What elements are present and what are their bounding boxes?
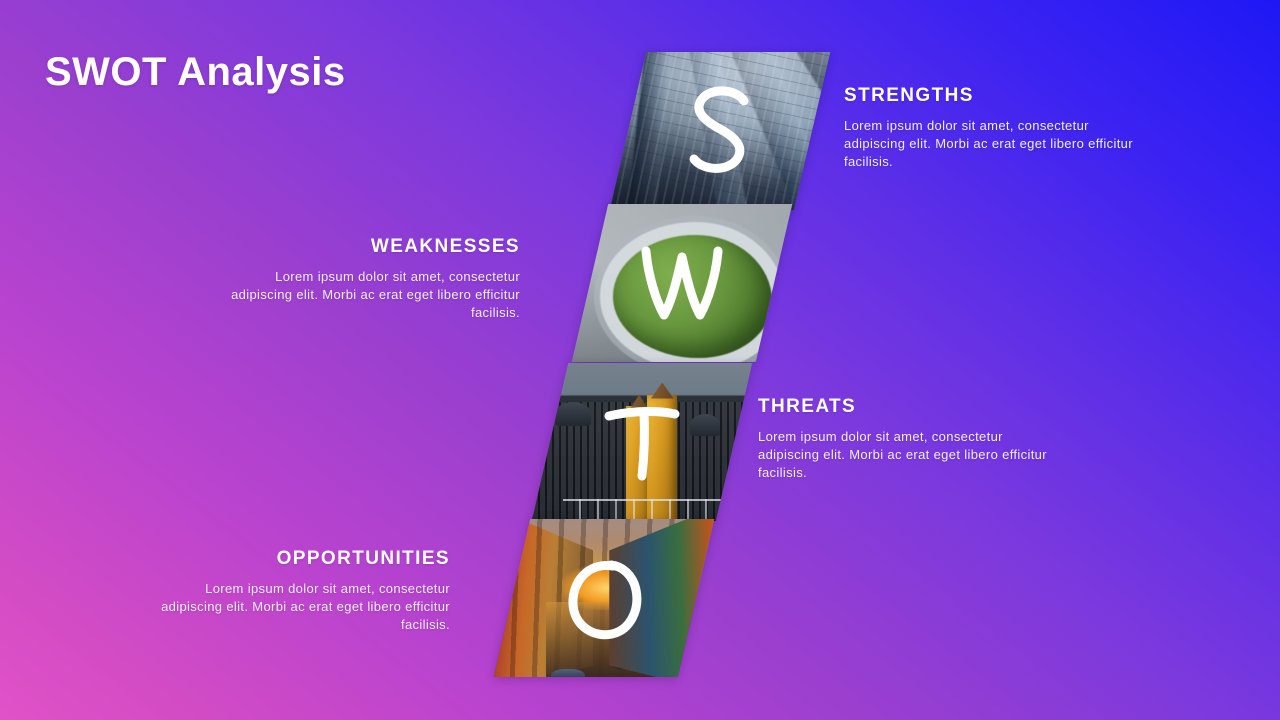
strengths-body: Lorem ipsum dolor sit amet, consectetur … <box>844 117 1154 171</box>
swot-panel-strengths[interactable] <box>610 52 830 210</box>
page-title: SWOT Analysis <box>45 50 346 94</box>
swot-text-weaknesses: WEAKNESSES Lorem ipsum dolor sit amet, c… <box>210 236 520 322</box>
industrial-rooftop-ducts-image <box>532 363 752 521</box>
swot-text-opportunities: OPPORTUNITIES Lorem ipsum dolor sit amet… <box>140 548 450 634</box>
weaknesses-heading: WEAKNESSES <box>210 236 520 259</box>
threats-body: Lorem ipsum dolor sit amet, consectetur … <box>758 428 1068 482</box>
boat <box>551 669 585 677</box>
swot-panel-threats[interactable] <box>532 363 752 521</box>
swot-text-strengths: STRENGTHS Lorem ipsum dolor sit amet, co… <box>844 85 1154 171</box>
canal-sunset-colourful-houses-image <box>494 519 714 677</box>
strengths-heading: STRENGTHS <box>844 85 1154 108</box>
opportunities-heading: OPPORTUNITIES <box>140 548 450 571</box>
canal-water <box>546 602 667 677</box>
skyscrapers-looking-up-image <box>610 52 830 210</box>
roof-dome <box>690 414 720 436</box>
opportunities-body: Lorem ipsum dolor sit amet, consectetur … <box>140 580 450 634</box>
roof-dome <box>555 402 591 426</box>
swot-slide: SWOT Analysis <box>0 0 1280 720</box>
swot-text-threats: THREATS Lorem ipsum dolor sit amet, cons… <box>758 396 1068 482</box>
weaknesses-body: Lorem ipsum dolor sit amet, consectetur … <box>210 268 520 322</box>
aerial-green-courtyard-image <box>572 204 792 362</box>
threats-heading: THREATS <box>758 396 1068 419</box>
swot-panel-opportunities[interactable] <box>494 519 714 677</box>
boat <box>609 656 637 669</box>
metal-railing <box>563 499 752 521</box>
swot-panel-weaknesses[interactable] <box>572 204 792 362</box>
